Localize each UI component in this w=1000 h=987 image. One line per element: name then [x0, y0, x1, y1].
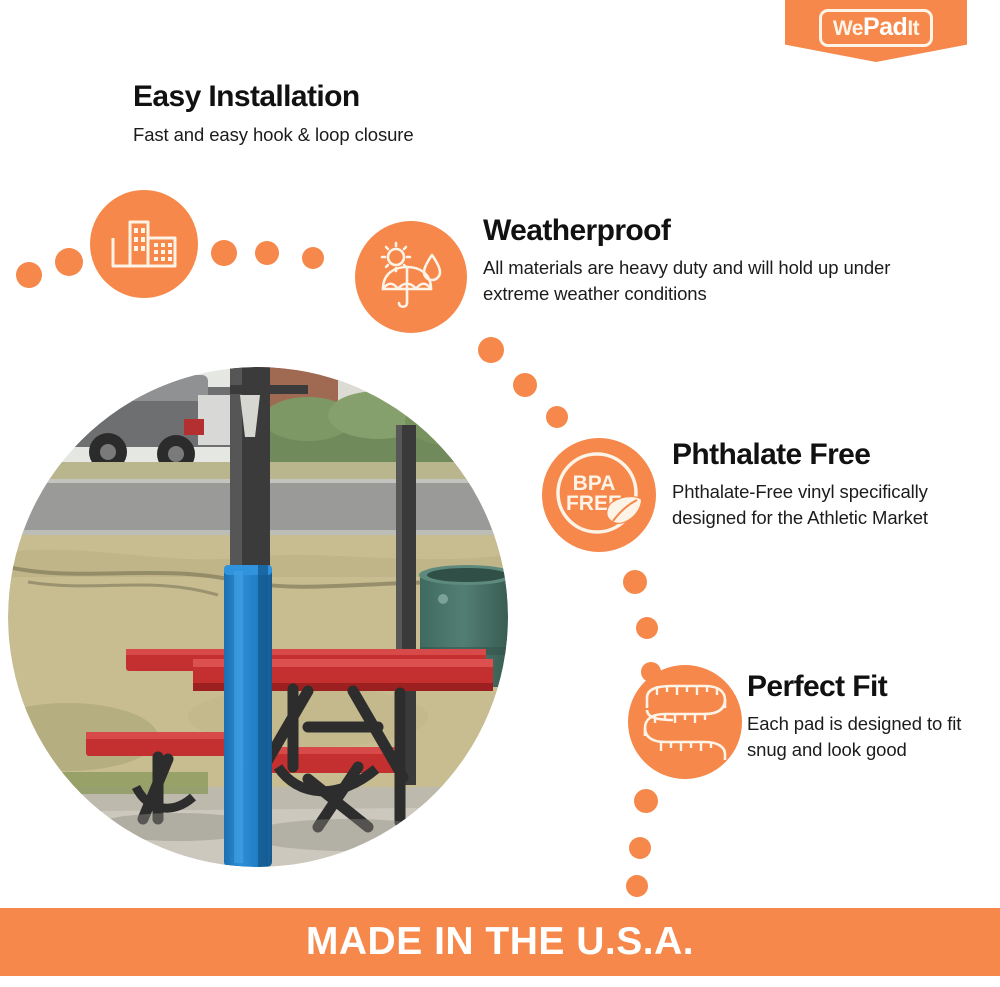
path-dot	[302, 247, 324, 269]
path-dot	[634, 789, 658, 813]
brand-logo-pad: Pad	[863, 15, 907, 40]
path-dot	[626, 875, 648, 897]
feature-block-phthalate-free: Phthalate Free Phthalate-Free vinyl spec…	[672, 438, 972, 532]
feature-block-easy-installation: Easy Installation Fast and easy hook & l…	[133, 80, 573, 148]
feature-block-perfect-fit: Perfect Fit Each pad is designed to fit …	[747, 670, 977, 764]
path-dot	[513, 373, 537, 397]
path-dot	[255, 241, 279, 265]
feature-desc-weatherproof: All materials are heavy duty and will ho…	[483, 255, 903, 308]
brand-logo-it: It	[907, 18, 919, 39]
path-dot	[478, 337, 504, 363]
feature-title-easy-installation: Easy Installation	[133, 80, 573, 113]
feature-title-perfect-fit: Perfect Fit	[747, 670, 977, 703]
feature-desc-phthalate-free: Phthalate-Free vinyl specifically design…	[672, 479, 972, 532]
path-dot	[629, 837, 651, 859]
path-dot	[546, 406, 568, 428]
feature-desc-perfect-fit: Each pad is designed to fit snug and loo…	[747, 711, 977, 764]
brand-logo-frame: We Pad It	[819, 9, 933, 47]
made-in-usa-banner: MADE IN THE U.S.A.	[0, 908, 1000, 976]
path-dot	[55, 248, 83, 276]
brand-logo[interactable]: We Pad It	[785, 0, 967, 62]
path-dot	[16, 262, 42, 288]
feature-desc-easy-installation: Fast and easy hook & loop closure	[133, 122, 573, 148]
path-dot	[211, 240, 237, 266]
feature-block-weatherproof: Weatherproof All materials are heavy dut…	[483, 214, 903, 308]
measuring-tape-icon	[628, 665, 742, 779]
building-icon	[90, 190, 198, 298]
feature-title-phthalate-free: Phthalate Free	[672, 438, 972, 471]
product-photo	[8, 367, 508, 867]
path-dot	[623, 570, 647, 594]
infographic-canvas: We Pad It Easy Installation Fast and eas…	[0, 0, 1000, 987]
feature-title-weatherproof: Weatherproof	[483, 214, 903, 247]
umbrella-sun-rain-icon	[355, 221, 467, 333]
brand-logo-we: We	[833, 18, 863, 39]
made-in-usa-text: MADE IN THE U.S.A.	[306, 920, 694, 964]
bpa-free-leaf-icon: BPA FREE	[542, 438, 656, 552]
path-dot	[636, 617, 658, 639]
